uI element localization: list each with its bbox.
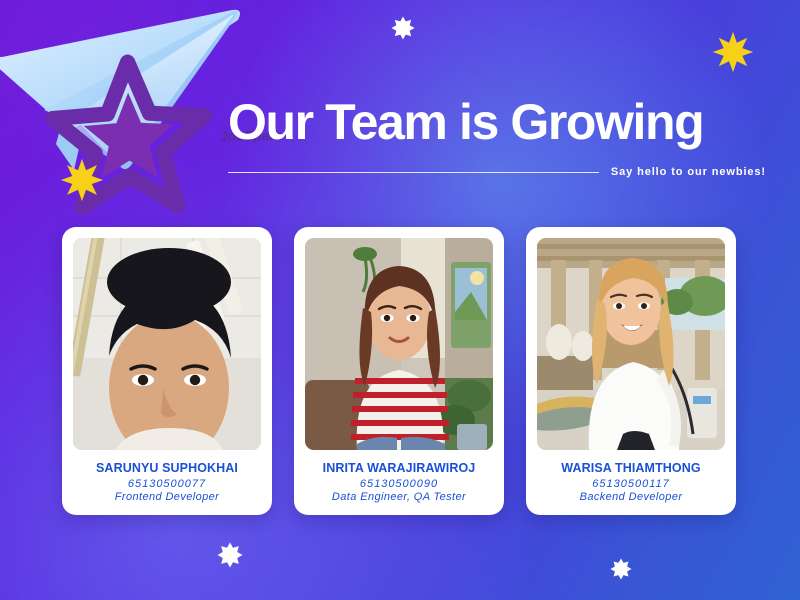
team-member-card[interactable]: WARISA THIAMTHONG 65130500117 Backend De… — [526, 227, 736, 515]
member-role: Backend Developer — [580, 491, 683, 503]
team-card-list: SARUNYU SUPHOKHAI 65130500077 Frontend D… — [62, 227, 738, 515]
star-icon — [712, 31, 754, 73]
subtitle-row: Say hello to our newbies! — [228, 166, 766, 178]
member-name: WARISA THIAMTHONG — [561, 461, 700, 475]
divider — [228, 172, 599, 173]
portrait-photo-icon — [73, 238, 261, 450]
portrait-photo-icon — [305, 238, 493, 450]
page-subtitle: Say hello to our newbies! — [611, 166, 766, 178]
member-name: SARUNYU SUPHOKHAI — [96, 461, 238, 475]
sparkle-icon — [610, 558, 632, 580]
member-photo — [305, 238, 493, 450]
member-id: 65130500117 — [592, 478, 669, 490]
page-title: Our Team is Growing — [228, 96, 766, 148]
star-icon — [60, 158, 104, 202]
member-role: Data Engineer, QA Tester — [332, 491, 466, 503]
portrait-photo-icon — [537, 238, 725, 450]
member-role: Frontend Developer — [115, 491, 219, 503]
member-photo — [537, 238, 725, 450]
member-name: INRITA WARAJIRAWIROJ — [323, 461, 476, 475]
member-photo — [73, 238, 261, 450]
member-id: 65130500077 — [128, 478, 206, 490]
header: Our Team is Growing Say hello to our new… — [228, 96, 766, 178]
team-member-card[interactable]: SARUNYU SUPHOKHAI 65130500077 Frontend D… — [62, 227, 272, 515]
member-id: 65130500090 — [360, 478, 438, 490]
sparkle-icon — [217, 542, 243, 568]
sparkle-icon — [391, 16, 415, 40]
team-member-card[interactable]: INRITA WARAJIRAWIROJ 65130500090 Data En… — [294, 227, 504, 515]
